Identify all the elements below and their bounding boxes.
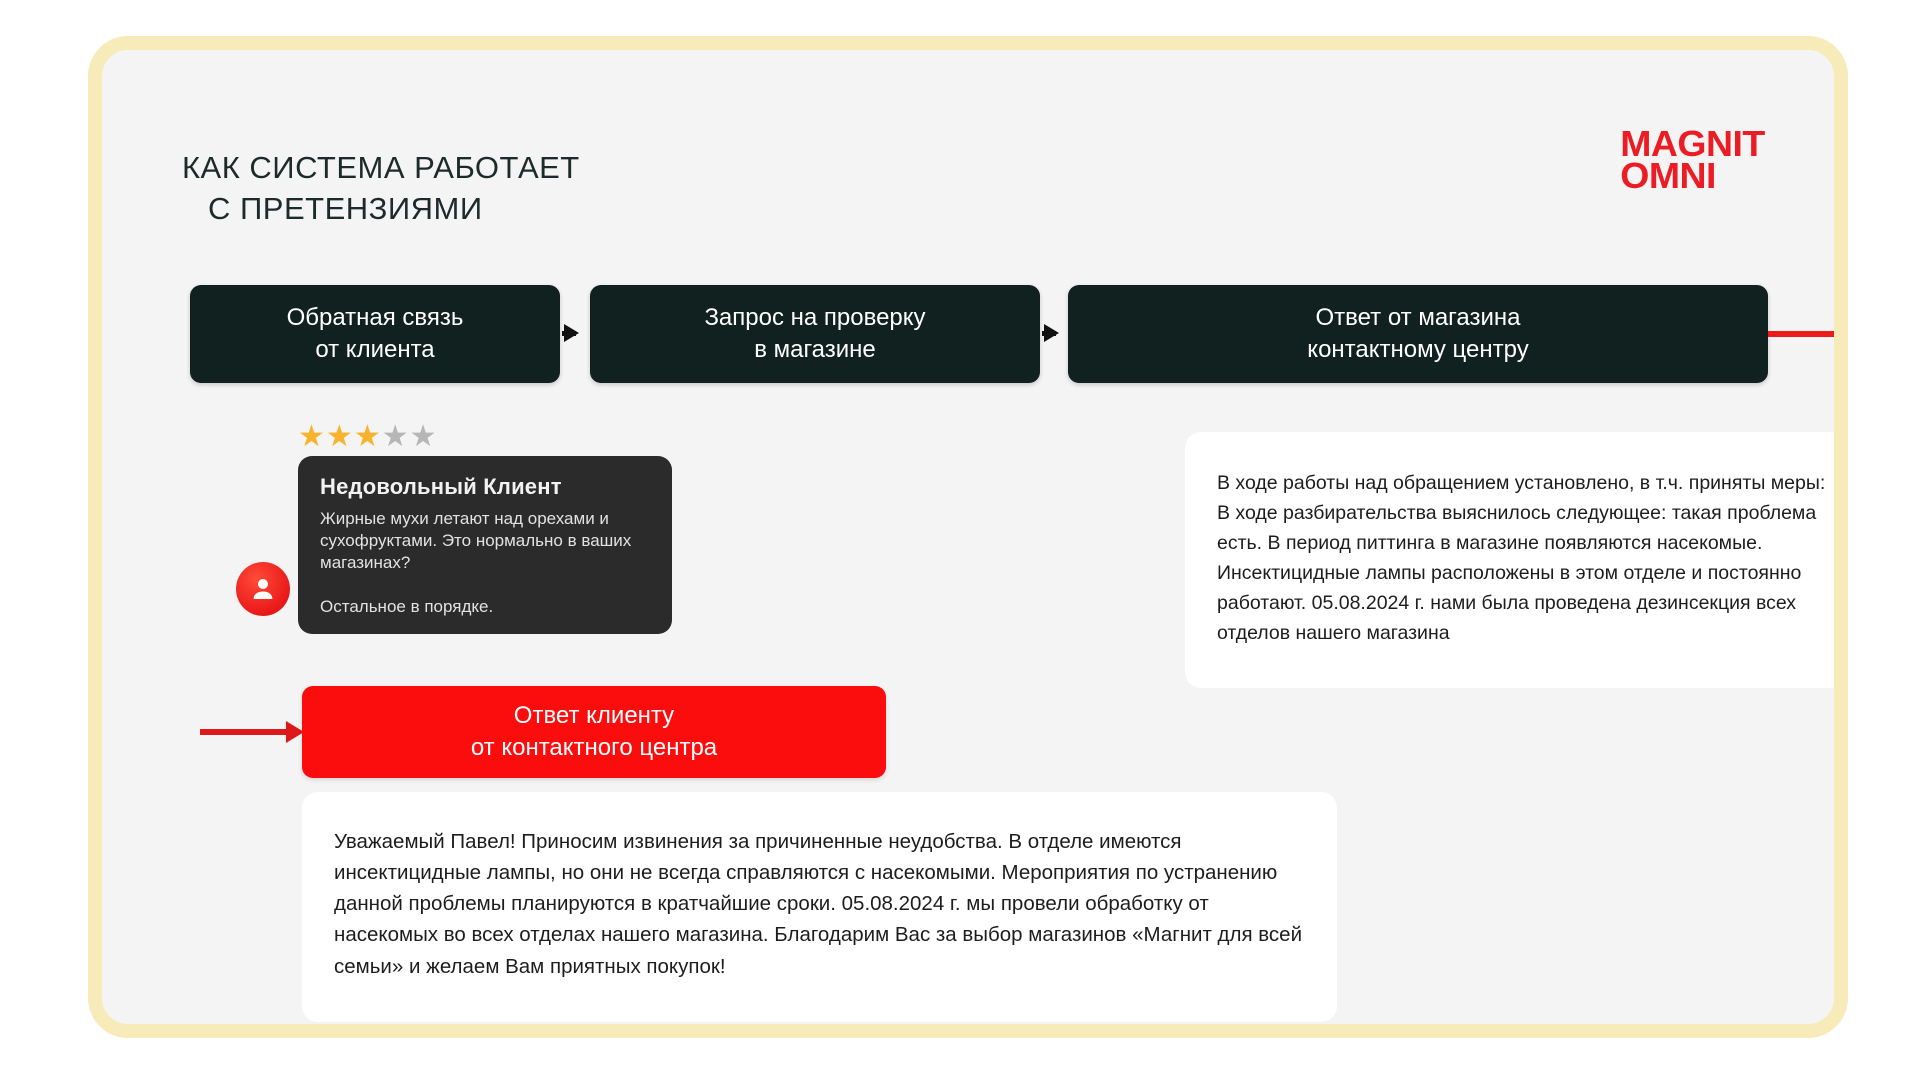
star-filled-icon-1: ★ [298, 420, 326, 453]
brand-logo: MAGNIT OMNI [1620, 128, 1765, 191]
star-filled-icon-3: ★ [354, 420, 382, 453]
flow-step-store-answer-line-2: контактному центру [1307, 336, 1528, 363]
flow-step-check-request-line-1: Запрос на проверку [704, 304, 925, 331]
store-response-text: В ходе работы над обращением установлено… [1217, 468, 1834, 648]
person-icon [248, 574, 278, 604]
star-empty-icon-4: ★ [382, 420, 410, 453]
slide-frame: КАК СИСТЕМА РАБОТАЕТ С ПРЕТЕНЗИЯМИ MAGNI… [88, 36, 1848, 1038]
customer-review-bubble: Недовольный Клиент Жирные мухи летают на… [298, 456, 672, 634]
client-reply-card: Уважаемый Павел! Приносим извинения за п… [302, 792, 1337, 1022]
page-title-line-1: КАК СИСТЕМА РАБОТАЕТ [182, 150, 580, 185]
star-filled-icon-2: ★ [326, 420, 354, 453]
red-connector-line [1768, 331, 1834, 337]
store-response-card: В ходе работы над обращением установлено… [1185, 432, 1834, 688]
flow-step-check-request-line-2: в магазине [754, 336, 876, 363]
flow-step-check-request[interactable]: Запрос на проверку в магазине [590, 285, 1040, 383]
cta-line-1: Ответ клиенту [514, 702, 674, 729]
flow-step-store-answer[interactable]: Ответ от магазина контактному центру [1068, 285, 1768, 383]
slide-panel: КАК СИСТЕМА РАБОТАЕТ С ПРЕТЕНЗИЯМИ MAGNI… [102, 50, 1834, 1024]
customer-name: Недовольный Клиент [320, 474, 650, 500]
flow-step-feedback-line-2: от клиента [315, 336, 434, 363]
cta-line-2: от контактного центра [471, 734, 717, 761]
avatar [236, 562, 290, 616]
arrow-right-icon-1 [562, 331, 576, 336]
contact-center-reply-button[interactable]: Ответ клиенту от контактного центра [302, 686, 886, 778]
star-empty-icon-5: ★ [410, 420, 438, 453]
page-title-line-2: С ПРЕТЕНЗИЯМИ [182, 189, 580, 230]
customer-postscript: Остальное в порядке. [320, 596, 650, 618]
arrow-right-icon-2 [1042, 331, 1056, 336]
flow-step-feedback[interactable]: Обратная связь от клиента [190, 285, 560, 383]
customer-message: Жирные мухи летают над орехами и сухофру… [320, 508, 650, 574]
flow-step-feedback-line-1: Обратная связь [287, 304, 464, 331]
brand-logo-line-2: OMNI [1620, 160, 1765, 192]
client-reply-text: Уважаемый Павел! Приносим извинения за п… [334, 826, 1307, 982]
flow-step-store-answer-line-1: Ответ от магазина [1315, 304, 1520, 331]
arrow-right-icon-red [200, 729, 288, 735]
page-title: КАК СИСТЕМА РАБОТАЕТ С ПРЕТЕНЗИЯМИ [182, 148, 580, 230]
star-rating: ★★★★★ [298, 422, 438, 452]
